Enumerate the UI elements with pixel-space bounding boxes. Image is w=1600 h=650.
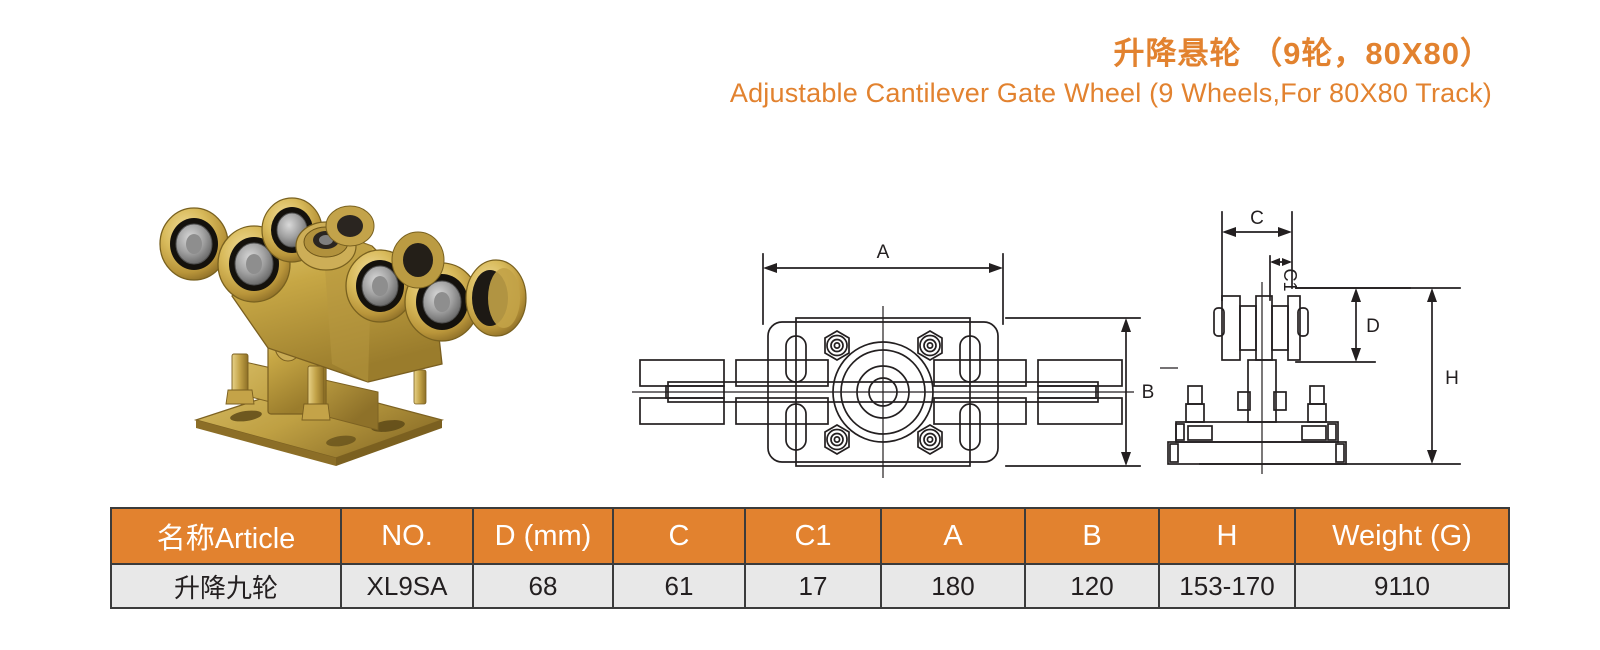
cell-weight: 9110 <box>1295 564 1509 608</box>
dimension-label-h: H <box>1445 368 1459 389</box>
dimension-label-d: D <box>1366 316 1380 337</box>
page-title-chinese: 升降悬轮 （9轮，80X80） <box>0 34 1492 74</box>
dimension-label-c: C <box>1250 208 1264 229</box>
page-title-english: Adjustable Cantilever Gate Wheel (9 Whee… <box>0 74 1492 112</box>
column-header-article: 名称Article <box>111 508 341 564</box>
table-row: 升降九轮 XL9SA 68 61 17 180 120 153-170 9110 <box>111 564 1509 608</box>
dimension-label-a: A <box>877 242 890 263</box>
product-photo <box>136 168 548 468</box>
dimension-label-b: B <box>1142 382 1155 403</box>
table-header-row: 名称Article NO. D (mm) C C1 A B H Weight (… <box>111 508 1509 564</box>
column-header-a: A <box>881 508 1025 564</box>
side-view-drawing: C C1 D H <box>1160 196 1500 486</box>
product-photo-image <box>136 168 548 468</box>
column-header-weight: Weight (G) <box>1295 508 1509 564</box>
title-block: 升降悬轮 （9轮，80X80） Adjustable Cantilever Ga… <box>0 34 1492 112</box>
cell-c1: 17 <box>745 564 881 608</box>
cell-b: 120 <box>1025 564 1159 608</box>
specification-table: 名称Article NO. D (mm) C C1 A B H Weight (… <box>110 507 1510 609</box>
cell-article: 升降九轮 <box>111 564 341 608</box>
cell-d: 68 <box>473 564 613 608</box>
top-view-drawing: A B <box>628 196 1168 486</box>
cell-c: 61 <box>613 564 745 608</box>
column-header-c1: C1 <box>745 508 881 564</box>
column-header-no: NO. <box>341 508 473 564</box>
column-header-c: C <box>613 508 745 564</box>
column-header-h: H <box>1159 508 1295 564</box>
column-header-d: D (mm) <box>473 508 613 564</box>
dimension-label-c1: C1 <box>1280 268 1300 291</box>
cell-h: 153-170 <box>1159 564 1295 608</box>
cell-a: 180 <box>881 564 1025 608</box>
column-header-b: B <box>1025 508 1159 564</box>
cell-no: XL9SA <box>341 564 473 608</box>
